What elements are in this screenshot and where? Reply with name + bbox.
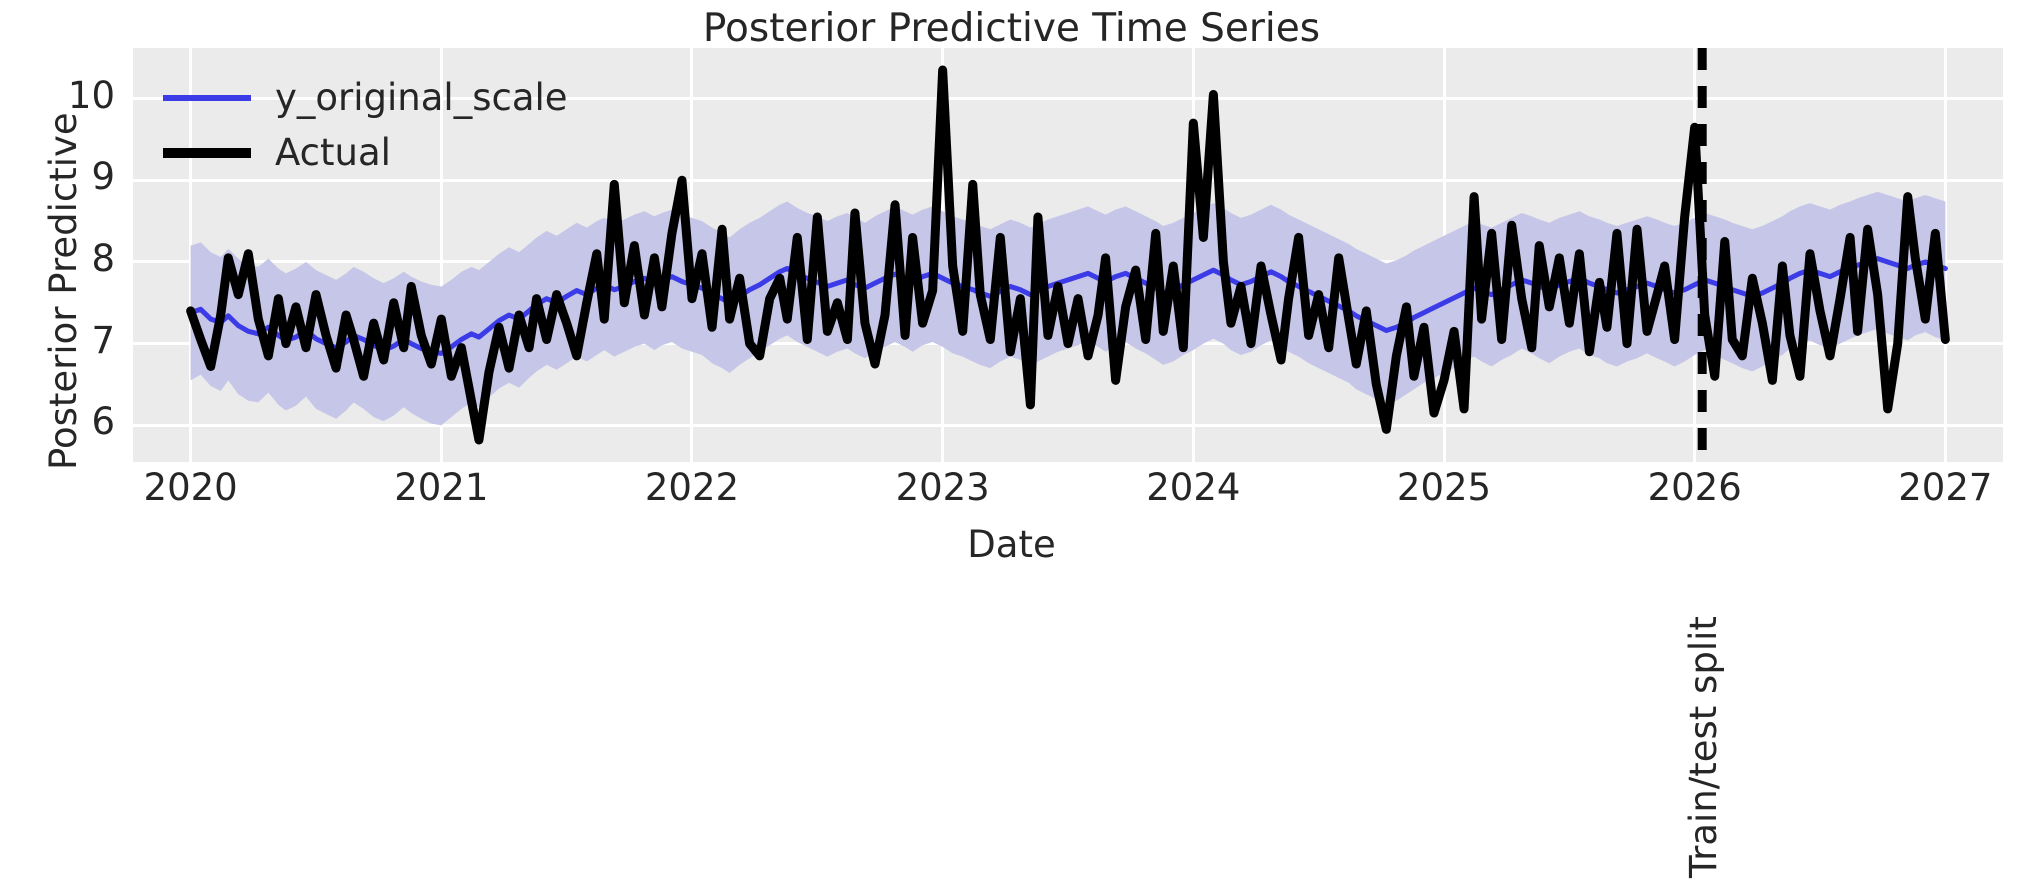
y-tick-9: 9 (5, 155, 115, 198)
y-tick-7: 7 (5, 319, 115, 362)
y-tick-6: 6 (5, 400, 115, 443)
legend-label: Actual (275, 131, 391, 174)
chart-legend: y_original_scaleActual (163, 70, 568, 180)
train-test-split-label: Train/test split (1682, 616, 1725, 878)
chart-title: Posterior Predictive Time Series (0, 6, 2023, 51)
chart-figure: Posterior Predictive Time Series Posteri… (0, 0, 2023, 885)
y-tick-10: 10 (5, 74, 115, 117)
x-tick-2027: 2027 (1845, 466, 2023, 509)
legend-item-y_original_scale[interactable]: y_original_scale (163, 70, 568, 125)
legend-label: y_original_scale (275, 76, 568, 119)
x-tick-2022: 2022 (592, 466, 792, 509)
x-tick-2021: 2021 (341, 466, 541, 509)
legend-swatch-icon (163, 95, 251, 101)
legend-item-Actual[interactable]: Actual (163, 125, 568, 180)
x-tick-2020: 2020 (91, 466, 291, 509)
x-tick-2024: 2024 (1093, 466, 1293, 509)
x-tick-2025: 2025 (1344, 466, 1544, 509)
y-tick-8: 8 (5, 237, 115, 280)
x-tick-2026: 2026 (1595, 466, 1795, 509)
x-tick-2023: 2023 (843, 466, 1043, 509)
legend-swatch-icon (163, 148, 251, 158)
x-axis-label: Date (0, 523, 2023, 566)
